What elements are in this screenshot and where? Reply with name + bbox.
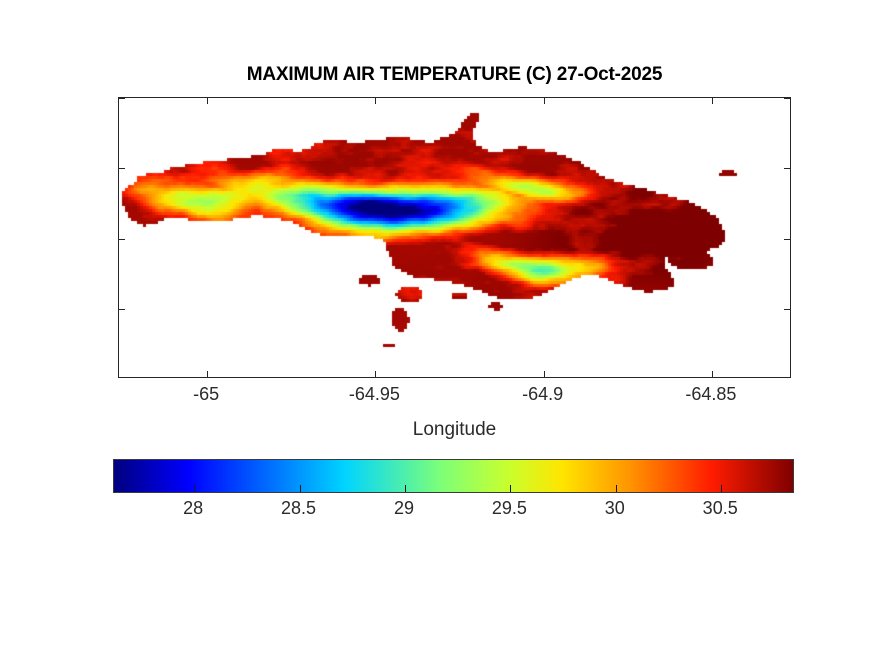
x-tick-label: -64.9 xyxy=(522,384,563,405)
page-title: MAXIMUM AIR TEMPERATURE (C) 27-Oct-2025 xyxy=(118,64,791,86)
y-tick-mark xyxy=(784,168,790,169)
x-tick-mark xyxy=(375,371,376,377)
colorbar-tick-mark xyxy=(405,485,406,492)
x-axis-label: Longitude xyxy=(118,419,791,441)
colorbar-tick-mark xyxy=(194,485,195,492)
matlab-figure: MAXIMUM AIR TEMPERATURE (C) 27-Oct-2025 … xyxy=(0,0,875,656)
colorbar-gradient xyxy=(113,459,794,493)
y-tick-mark xyxy=(119,239,125,240)
y-tick-mark xyxy=(784,98,790,99)
colorbar-tick-mark xyxy=(616,485,617,492)
x-tick-mark xyxy=(375,98,376,104)
x-tick-mark xyxy=(207,371,208,377)
x-tick-mark xyxy=(544,98,545,104)
x-tick-label: -64.95 xyxy=(349,384,400,405)
temperature-heatmap xyxy=(119,98,791,378)
colorbar-tick-label: 28.5 xyxy=(281,498,316,519)
x-tick-mark xyxy=(712,371,713,377)
colorbar-tick-mark xyxy=(510,485,511,492)
colorbar-tick-label: 30.5 xyxy=(703,498,738,519)
x-tick-mark xyxy=(207,98,208,104)
colorbar-tick-label: 29 xyxy=(394,498,414,519)
x-tick-label: -65 xyxy=(193,384,219,405)
colorbar-tick-mark xyxy=(300,485,301,492)
x-tick-mark xyxy=(712,98,713,104)
y-tick-mark xyxy=(784,239,790,240)
colorbar xyxy=(113,459,794,493)
y-tick-mark xyxy=(784,309,790,310)
colorbar-tick-label: 30 xyxy=(605,498,625,519)
y-tick-mark xyxy=(119,98,125,99)
y-tick-mark xyxy=(119,168,125,169)
map-axes xyxy=(118,97,791,378)
colorbar-tick-mark xyxy=(721,485,722,492)
x-tick-label: -64.85 xyxy=(685,384,736,405)
y-tick-mark xyxy=(119,309,125,310)
x-tick-mark xyxy=(544,371,545,377)
colorbar-tick-label: 28 xyxy=(183,498,203,519)
colorbar-tick-label: 29.5 xyxy=(492,498,527,519)
